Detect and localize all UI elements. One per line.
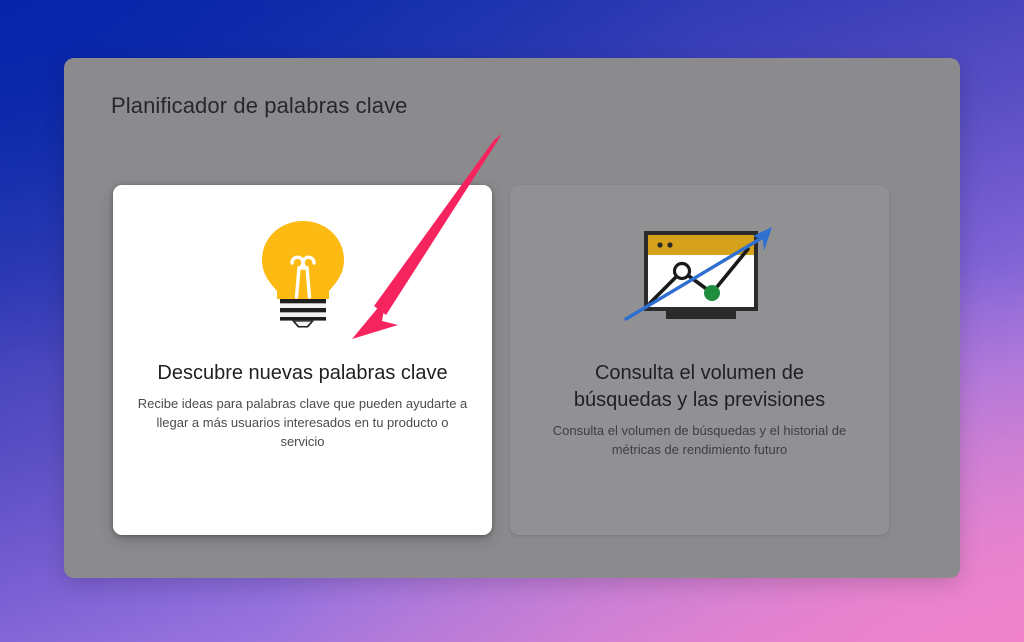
lightbulb-icon [253, 217, 353, 329]
page-title: Planificador de palabras clave [111, 93, 408, 119]
search-volume-chart-icon-wrap [534, 185, 865, 360]
card-title-search-volume-forecasts: Consulta el volumen de búsquedas y las p… [550, 360, 850, 414]
card-description-search-volume-forecasts: Consulta el volumen de búsquedas y el hi… [535, 421, 865, 459]
card-description-discover-keywords: Recibe ideas para palabras clave que pue… [138, 394, 468, 451]
lightbulb-icon-wrap [137, 185, 468, 360]
card-discover-keywords[interactable]: Descubre nuevas palabras clave Recibe id… [113, 185, 492, 535]
card-search-volume-forecasts[interactable]: Consulta el volumen de búsquedas y las p… [510, 185, 889, 535]
option-card-list: Descubre nuevas palabras clave Recibe id… [113, 185, 929, 535]
keyword-planner-panel: Planificador de palabras clave [64, 58, 960, 578]
search-volume-chart-icon [620, 219, 780, 327]
card-title-discover-keywords: Descubre nuevas palabras clave [157, 360, 447, 387]
